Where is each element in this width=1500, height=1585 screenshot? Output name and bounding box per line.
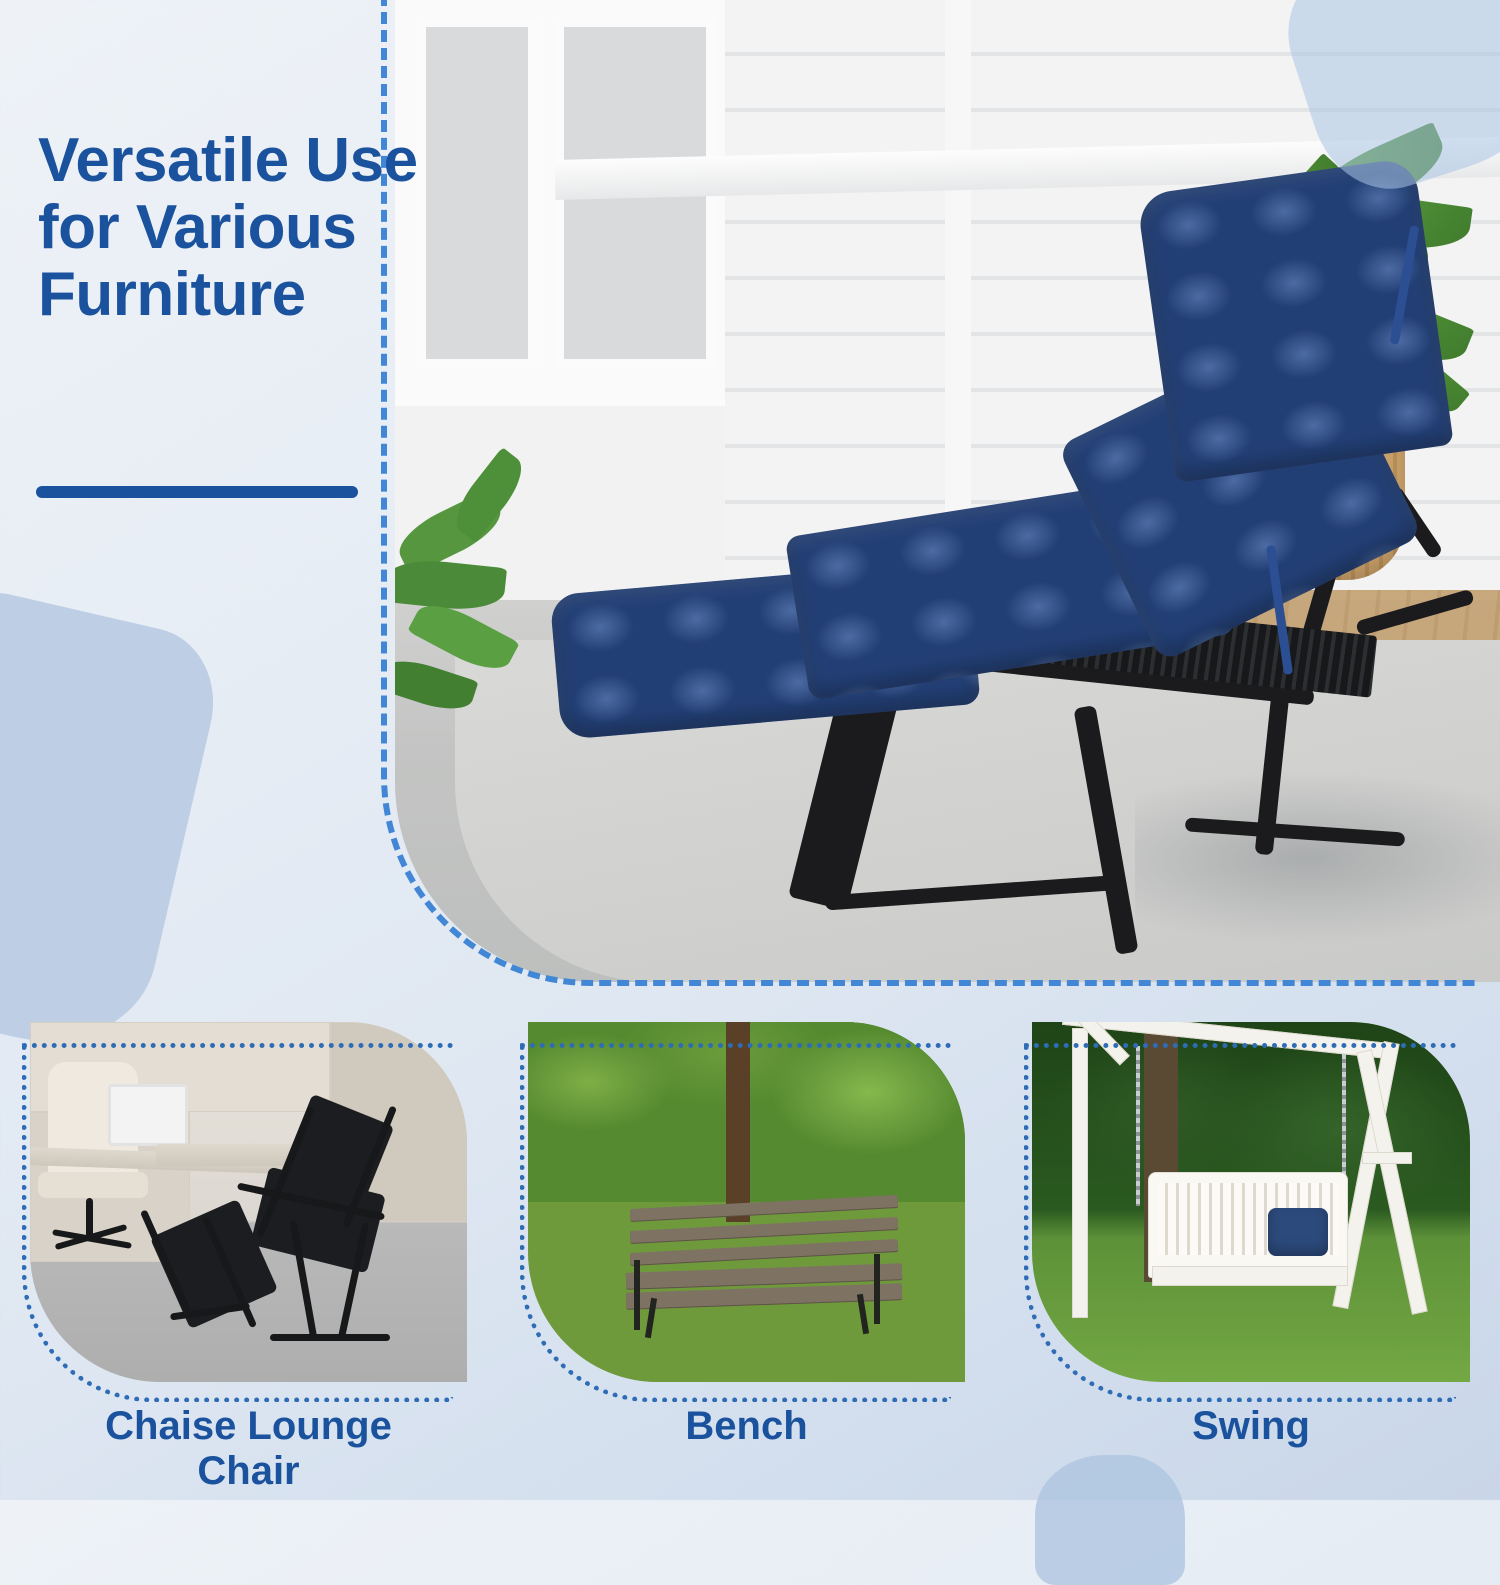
caption-line-1: Swing [1032, 1404, 1470, 1449]
card-caption-swing: Swing [1032, 1404, 1470, 1449]
card-caption-chaise-lounge-chair: Chaise Lounge Chair [30, 1404, 467, 1494]
decorative-blob-bottom [1035, 1455, 1185, 1585]
use-case-card-bench [528, 1022, 965, 1382]
swing-frame-crossbar [1362, 1152, 1412, 1164]
card-photo-park-bench [528, 1022, 965, 1382]
card-caption-bench: Bench [528, 1404, 965, 1449]
folding-lounger [495, 185, 1495, 945]
headline-line-1: Versatile Use [38, 128, 388, 195]
caption-line-1: Bench [528, 1404, 965, 1449]
card-photo-office-recliner [30, 1022, 467, 1382]
zero-gravity-chair [150, 1102, 467, 1372]
decorative-blob-left [0, 582, 229, 1064]
navy-pillow [1268, 1208, 1328, 1256]
tree-trunk [726, 1022, 750, 1222]
cushion-backrest [1136, 157, 1454, 483]
caption-line-1: Chaise Lounge [30, 1404, 467, 1449]
swing-chain [1136, 1046, 1140, 1206]
swing-seat-front [1152, 1266, 1348, 1286]
headline-underline-rule [36, 486, 358, 498]
card-photo-porch-swing [1032, 1022, 1470, 1382]
park-bench [624, 1202, 904, 1332]
headline-line-3: Furniture [38, 262, 388, 329]
headline-line-2: for Various [38, 195, 388, 262]
office-scene [30, 1022, 467, 1382]
page-title: Versatile Use for Various Furniture [38, 128, 388, 329]
caption-line-2: Chair [30, 1449, 467, 1494]
garden-scene [1032, 1022, 1470, 1382]
use-case-card-swing [1032, 1022, 1470, 1382]
use-case-card-chaise-lounge-chair [30, 1022, 467, 1382]
swing-frame-post [1072, 1028, 1088, 1318]
office-chair-seat [38, 1172, 148, 1198]
park-scene [528, 1022, 965, 1382]
